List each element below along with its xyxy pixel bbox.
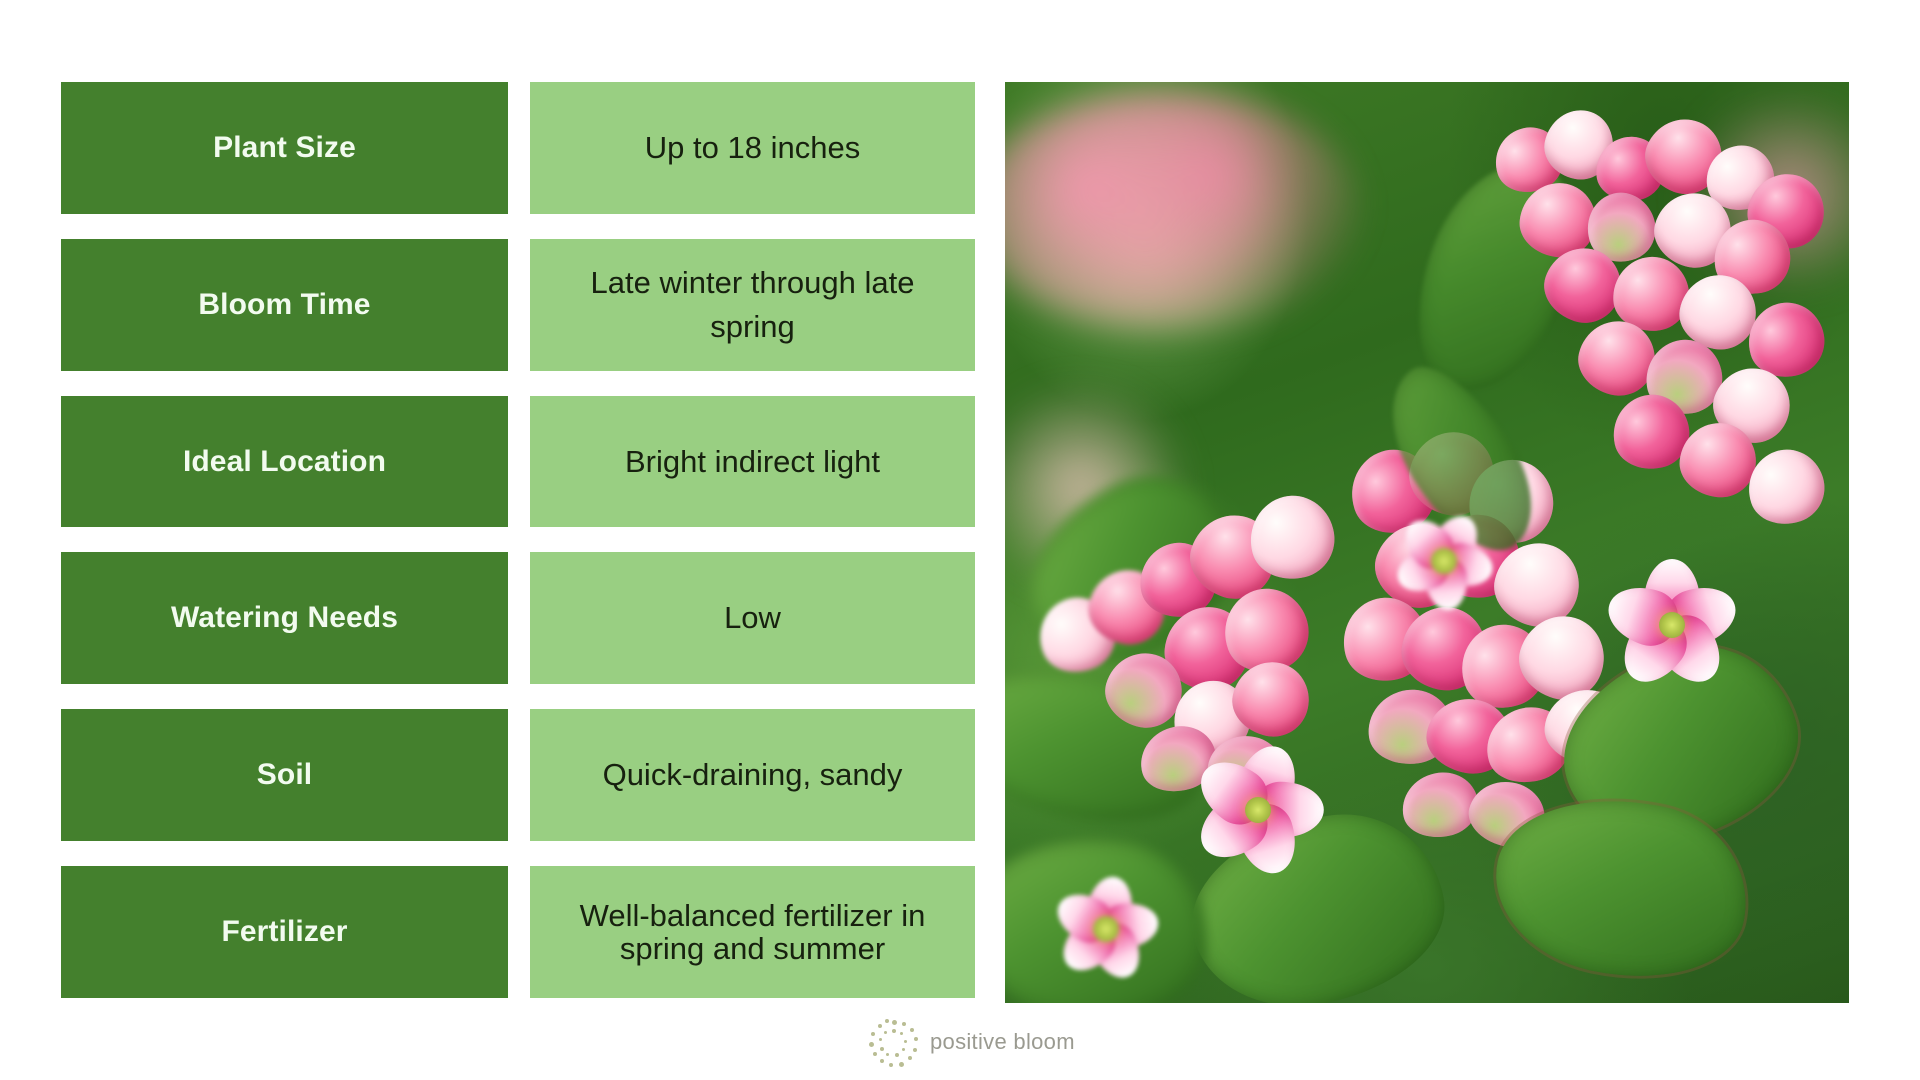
brand-logo-text: positive bloom	[930, 1029, 1075, 1055]
table-row: Bloom Time Late winter through late spri…	[61, 239, 975, 371]
row-value-ideal-location: Bright indirect light	[530, 396, 975, 528]
table-row: Watering Needs Low	[61, 552, 975, 684]
row-label-ideal-location: Ideal Location	[61, 396, 508, 528]
table-row: Plant Size Up to 18 inches	[61, 82, 975, 214]
row-value-plant-size: Up to 18 inches	[530, 82, 975, 214]
row-label-watering-needs: Watering Needs	[61, 552, 508, 684]
row-label-plant-size: Plant Size	[61, 82, 508, 214]
row-value-watering-needs: Low	[530, 552, 975, 684]
row-label-bloom-time: Bloom Time	[61, 239, 508, 371]
row-value-bloom-time: Late winter through late spring	[530, 239, 975, 371]
dotted-circle-icon	[868, 1018, 924, 1070]
table-row: Fertilizer Well-balanced fertilizer in s…	[61, 866, 975, 998]
row-label-fertilizer: Fertilizer	[61, 866, 508, 998]
kalanchoe-photo	[1005, 82, 1849, 1003]
row-value-soil: Quick-draining, sandy	[530, 709, 975, 841]
plant-care-table: Plant Size Up to 18 inches Bloom Time La…	[61, 82, 975, 998]
row-value-fertilizer: Well-balanced fertilizer in spring and s…	[530, 866, 975, 998]
brand-logo: positive bloom	[868, 1018, 1068, 1070]
table-row: Soil Quick-draining, sandy	[61, 709, 975, 841]
plant-care-infographic: Plant Size Up to 18 inches Bloom Time La…	[0, 0, 1920, 1080]
table-row: Ideal Location Bright indirect light	[61, 396, 975, 528]
row-label-soil: Soil	[61, 709, 508, 841]
